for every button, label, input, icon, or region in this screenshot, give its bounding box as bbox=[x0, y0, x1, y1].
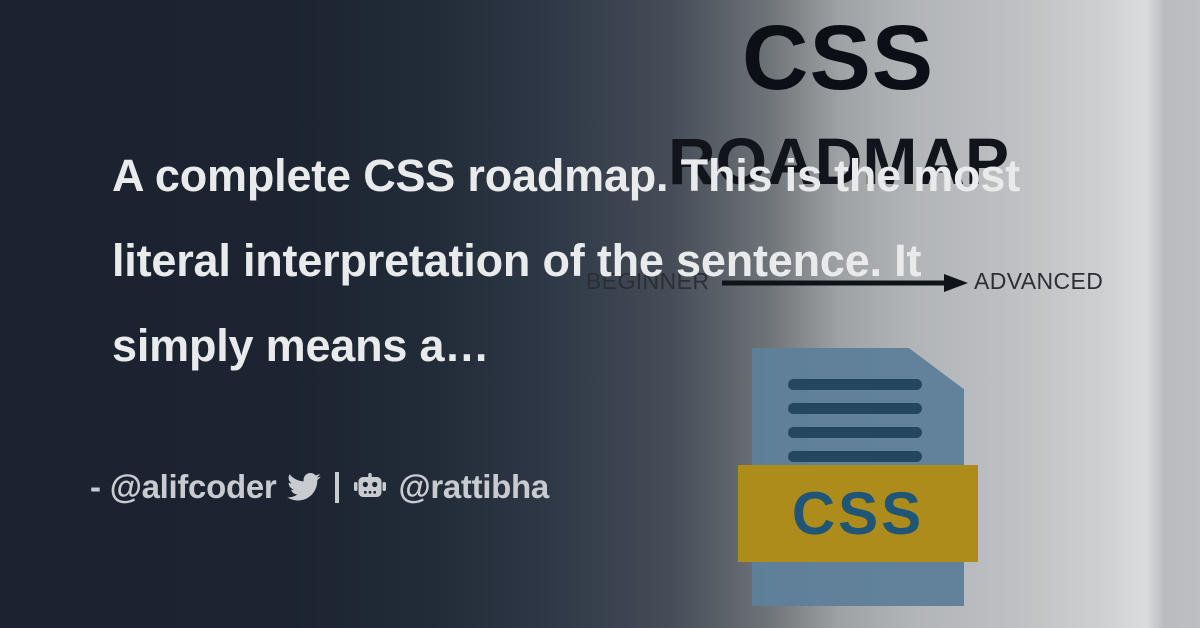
attribution-separator bbox=[335, 472, 339, 503]
social-share-card: CSS ROADMAP BEGINNER ADVANCED CSS A comp… bbox=[0, 0, 1200, 628]
attribution-dash: - bbox=[90, 468, 101, 506]
overlay-content: A complete CSS roadmap. This is the most… bbox=[0, 0, 1200, 628]
twitter-bird-icon[interactable] bbox=[287, 473, 321, 501]
service-handle[interactable]: @rattibha bbox=[398, 468, 549, 506]
author-handle[interactable]: @alifcoder bbox=[110, 468, 277, 506]
attribution-line: - @alifcoder bbox=[90, 468, 549, 506]
robot-icon[interactable] bbox=[354, 473, 386, 501]
quote-text: A complete CSS roadmap. This is the most… bbox=[112, 133, 1062, 388]
